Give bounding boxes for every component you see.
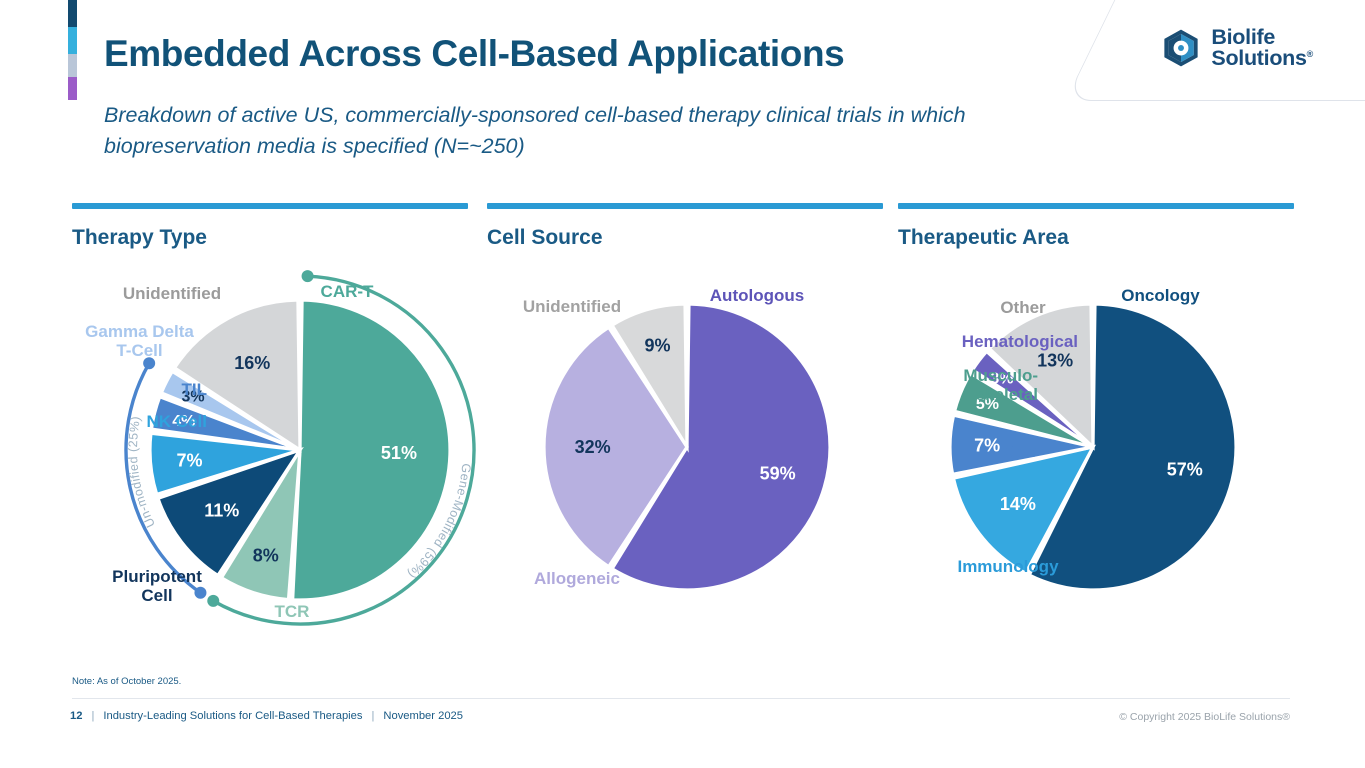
pie-value-label: 13%	[1037, 351, 1073, 371]
footer-divider	[72, 698, 1290, 699]
pie-category-label: TIL	[87, 380, 207, 399]
footer-separator-2: |	[371, 710, 374, 722]
pie-category-label: Gamma Delta T-Cell	[67, 322, 212, 361]
pie-category-label: Allogeneic	[497, 569, 657, 588]
pie-category-label: NK Cell	[67, 412, 207, 431]
footer-left: 12 | Industry-Leading Solutions for Cell…	[70, 710, 463, 722]
pie-chart-cell-source: 59%32%9% AutologousUnidentifiedAllogenei…	[487, 262, 887, 642]
pie-chart-therapy-type: 51%8%11%7%4%3%16%Gene-Modified (59%)Un-m…	[72, 262, 492, 642]
page-subtitle: Breakdown of active US, commercially-spo…	[104, 100, 1104, 162]
pie-category-label: Pluripotent Cell	[92, 567, 222, 606]
slide: Biolife Solutions® Embedded Across Cell-…	[0, 0, 1365, 768]
panel-header-cell-source: Cell Source	[487, 203, 883, 250]
accent-segment-gray	[68, 54, 77, 77]
pie-category-label: Other	[953, 298, 1093, 317]
footer-separator-1: |	[91, 710, 94, 722]
panel-rule	[898, 203, 1294, 209]
accent-segment-navy	[68, 0, 77, 27]
panel-rule	[72, 203, 468, 209]
bracket-endpoint-gene-modified	[302, 270, 314, 282]
panel-header-therapeutic-area: Therapeutic Area	[898, 203, 1294, 250]
logo-text-line1: Biolife	[1211, 27, 1313, 48]
panel-header-therapy-type: Therapy Type	[72, 203, 468, 250]
page-title: Embedded Across Cell-Based Applications	[104, 33, 844, 75]
panel-rule	[487, 203, 883, 209]
panel-title: Cell Source	[487, 226, 883, 250]
pie-value-label: 16%	[234, 353, 270, 373]
pie-value-label: 32%	[575, 437, 611, 457]
footer-deck-title: Industry-Leading Solutions for Cell-Base…	[103, 710, 362, 722]
pie-value-label: 9%	[644, 335, 670, 355]
brand-accent-bar	[68, 0, 77, 100]
pie-category-label: CAR-T	[272, 282, 422, 301]
panel-title: Therapeutic Area	[898, 226, 1294, 250]
pie-value-label: 59%	[760, 463, 796, 483]
footnote: Note: As of October 2025.	[72, 676, 181, 687]
pie-category-label: Immunology	[928, 557, 1088, 576]
footer-copyright: © Copyright 2025 BioLife Solutions®	[1119, 711, 1290, 723]
pie-value-label: 7%	[176, 450, 202, 470]
pie-value-label: 57%	[1167, 459, 1203, 479]
page-number: 12	[70, 710, 82, 722]
footer-date: November 2025	[383, 710, 463, 722]
pie-category-label: Unidentified	[92, 284, 252, 303]
pie-category-label: CNS	[893, 442, 1038, 461]
pie-value-label: 14%	[1000, 494, 1036, 514]
pie-category-label: Autologous	[677, 286, 837, 305]
biolife-hexagon-logo-icon	[1160, 27, 1202, 69]
pie-value-label: 51%	[381, 443, 417, 463]
pie-chart-therapeutic-area: 57%14%7%5%3%13% OncologyOtherHematologic…	[898, 262, 1298, 642]
accent-segment-purple	[68, 77, 77, 100]
pie-category-label: Musculo- skeletal	[893, 366, 1038, 405]
logo-text-line2: Solutions®	[1211, 48, 1313, 69]
pie-value-label: 8%	[253, 546, 279, 566]
pie-category-label: Hematological	[893, 332, 1078, 351]
pie-value-label: 11%	[204, 501, 239, 521]
pie-category-label: TCR	[232, 602, 352, 621]
accent-segment-cyan	[68, 27, 77, 54]
pie-category-label: Oncology	[1073, 286, 1248, 305]
pie-category-label: Unidentified	[492, 297, 652, 316]
brand-logo: Biolife Solutions®	[1160, 27, 1313, 69]
panel-title: Therapy Type	[72, 226, 468, 250]
